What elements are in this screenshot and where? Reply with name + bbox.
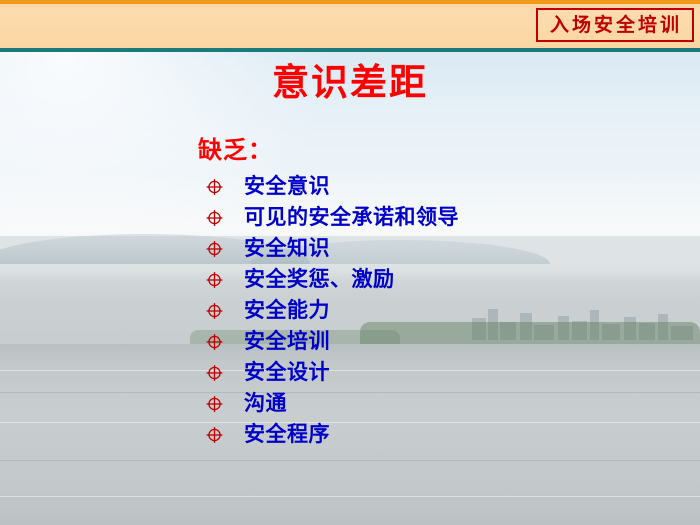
bullet-label: 安全意识 [244,176,330,197]
banner-title-box: 入场安全培训 [536,8,694,42]
crosshair-target-icon [206,178,223,195]
list-item: 安全奖惩、激励 [190,264,660,295]
bullet-label: 安全培训 [244,331,330,352]
bullet-label: 沟通 [244,393,287,414]
bullet-label: 安全奖惩、激励 [244,269,395,290]
crosshair-target-icon [206,209,223,226]
page-title: 意识差距 [0,62,700,105]
presentation-slide: 入场安全培训 意识差距 缺乏： 安全意识 [0,0,700,525]
bullet-label: 安全知识 [244,238,330,259]
list-item: 沟通 [190,388,660,419]
list-item: 安全设计 [190,357,660,388]
pavement-seam [0,460,700,461]
crosshair-target-icon [206,426,223,443]
bullet-list: 安全意识 可见的安全承诺和领导 [190,171,660,450]
bullet-label: 安全能力 [244,300,330,321]
crosshair-target-icon [206,395,223,412]
bullet-label: 安全程序 [244,424,330,445]
lead-text: 缺乏： [198,135,660,165]
crosshair-target-icon [206,333,223,350]
list-item: 安全知识 [190,233,660,264]
banner-title: 入场安全培训 [550,16,682,35]
banner-bottom-rule [0,48,700,52]
crosshair-target-icon [206,271,223,288]
pavement-seam [0,496,700,497]
crosshair-target-icon [206,364,223,381]
slide-header-banner: 入场安全培训 [0,0,700,52]
list-item: 安全程序 [190,419,660,450]
bullet-label: 可见的安全承诺和领导 [244,207,459,228]
content-block: 缺乏： 安全意识 [190,135,660,450]
list-item: 可见的安全承诺和领导 [190,202,660,233]
crosshair-target-icon [206,240,223,257]
crosshair-target-icon [206,302,223,319]
list-item: 安全培训 [190,326,660,357]
bullet-label: 安全设计 [244,362,330,383]
list-item: 安全意识 [190,171,660,202]
list-item: 安全能力 [190,295,660,326]
